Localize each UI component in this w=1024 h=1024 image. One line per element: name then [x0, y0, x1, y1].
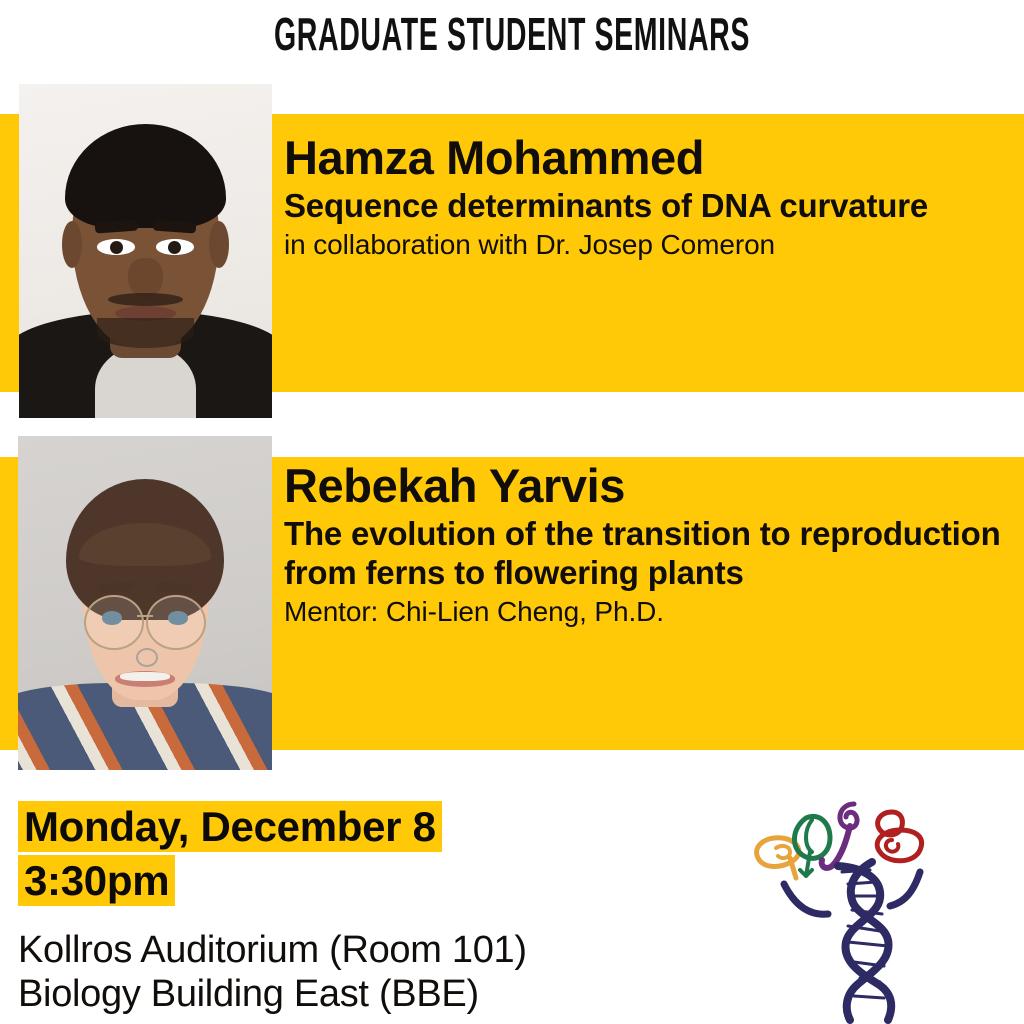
seminar-poster: GRADUATE STUDENT SEMINARS Hamza Moha	[0, 0, 1024, 1024]
speaker-1-name: Hamza Mohammed	[284, 134, 1024, 183]
speaker-2-photo	[18, 436, 272, 770]
page-title: GRADUATE STUDENT SEMINARS	[195, 10, 830, 58]
speaker-2-talk-title: The evolution of the transition to repro…	[284, 515, 1024, 593]
speaker-2-info: Rebekah Yarvis The evolution of the tran…	[284, 462, 1024, 628]
juggled-ball-purple	[822, 804, 857, 868]
event-details: Monday, December 8 3:30pm Kollros Audito…	[18, 800, 718, 1016]
speaker-1-photo	[19, 84, 272, 418]
speaker-1-talk-title: Sequence determinants of DNA curvature	[284, 187, 1024, 226]
dna-juggler-logo	[742, 786, 1014, 1024]
speaker-1-info: Hamza Mohammed Sequence determinants of …	[284, 134, 1024, 261]
event-date: Monday, December 8	[18, 801, 442, 852]
dna-helix-body	[838, 862, 891, 1020]
speaker-1-subtitle: in collaboration with Dr. Josep Comeron	[284, 228, 1024, 262]
speaker-2-subtitle: Mentor: Chi-Lien Cheng, Ph.D.	[284, 595, 1024, 629]
event-time: 3:30pm	[18, 855, 175, 906]
venue-line-2: Biology Building East (BBE)	[18, 972, 718, 1016]
juggled-ball-red	[877, 812, 921, 861]
event-venue: Kollros Auditorium (Room 101) Biology Bu…	[18, 928, 718, 1016]
speaker-2-name: Rebekah Yarvis	[284, 462, 1024, 511]
venue-line-1: Kollros Auditorium (Room 101)	[18, 928, 718, 972]
